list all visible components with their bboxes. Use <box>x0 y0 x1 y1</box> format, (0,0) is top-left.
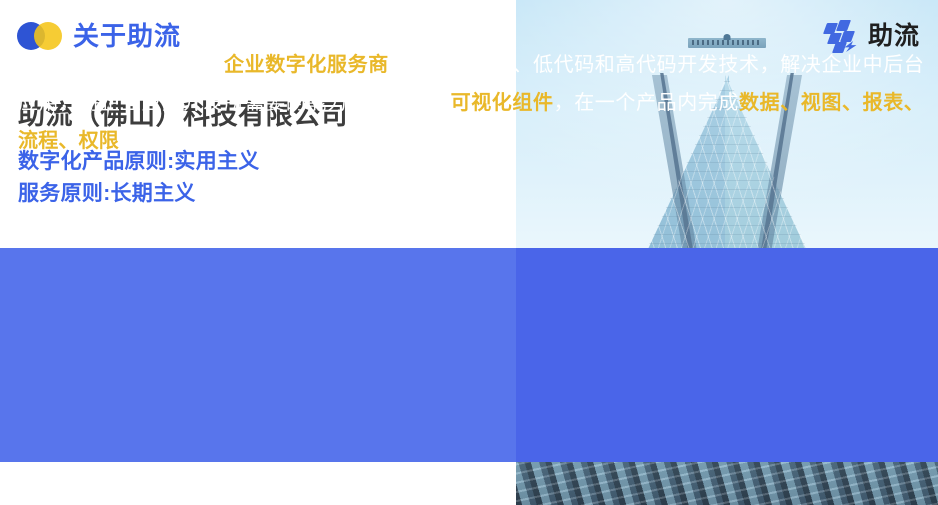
description-text: 等功能，在电脑和手机上同步设置使用。 <box>119 130 483 152</box>
description-band-solid <box>0 248 516 462</box>
description-text: ，在一个产品内完成 <box>554 92 739 114</box>
description-text: 助流科技是一家专业的 <box>18 54 224 76</box>
description-band <box>0 248 938 462</box>
description-highlight: 企业数字化服务商 <box>224 54 389 76</box>
tower-crown-teeth <box>692 40 762 45</box>
slide-canvas: 助流 关于助流 助流（佛山）科技有限公司 数字化产品原则:实用主义 服务原则:长… <box>0 0 938 505</box>
tower-antenna-icon <box>724 34 731 40</box>
principle-item: 服务原则:长期主义 <box>18 178 260 210</box>
description-highlight: 可视化组件 <box>451 92 554 114</box>
photo-watermark-label: 助流 <box>868 24 920 49</box>
description-paragraph: 助流科技是一家专业的企业数字化服务商，依托零代码、低代码和高代码开发技术，解决企… <box>18 46 924 160</box>
description-band-overlay <box>516 248 938 462</box>
